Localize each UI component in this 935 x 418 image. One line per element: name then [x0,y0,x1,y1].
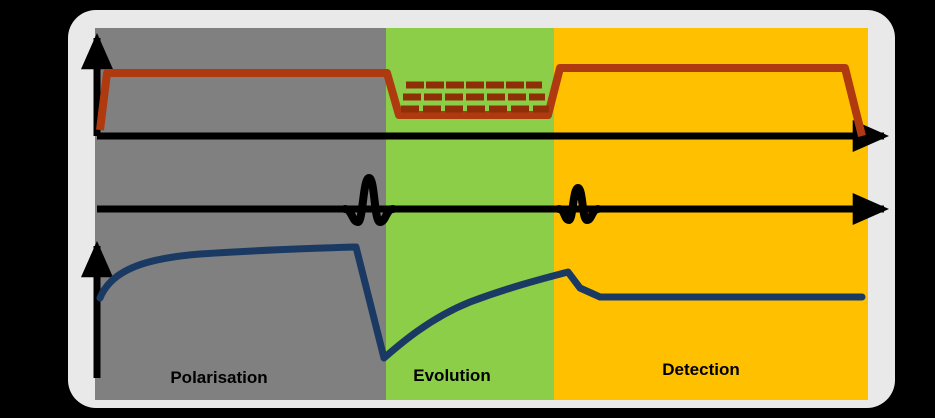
figure-stage: Polarisation Evolution Detection [0,0,935,418]
panel-detection [554,28,868,400]
panel-polarisation [95,28,386,400]
phase-label-detection: Detection [662,360,739,379]
pulse-sequence-diagram: Polarisation Evolution Detection [0,0,935,418]
phase-label-polarisation: Polarisation [170,368,267,387]
phase-label-evolution: Evolution [413,366,490,385]
